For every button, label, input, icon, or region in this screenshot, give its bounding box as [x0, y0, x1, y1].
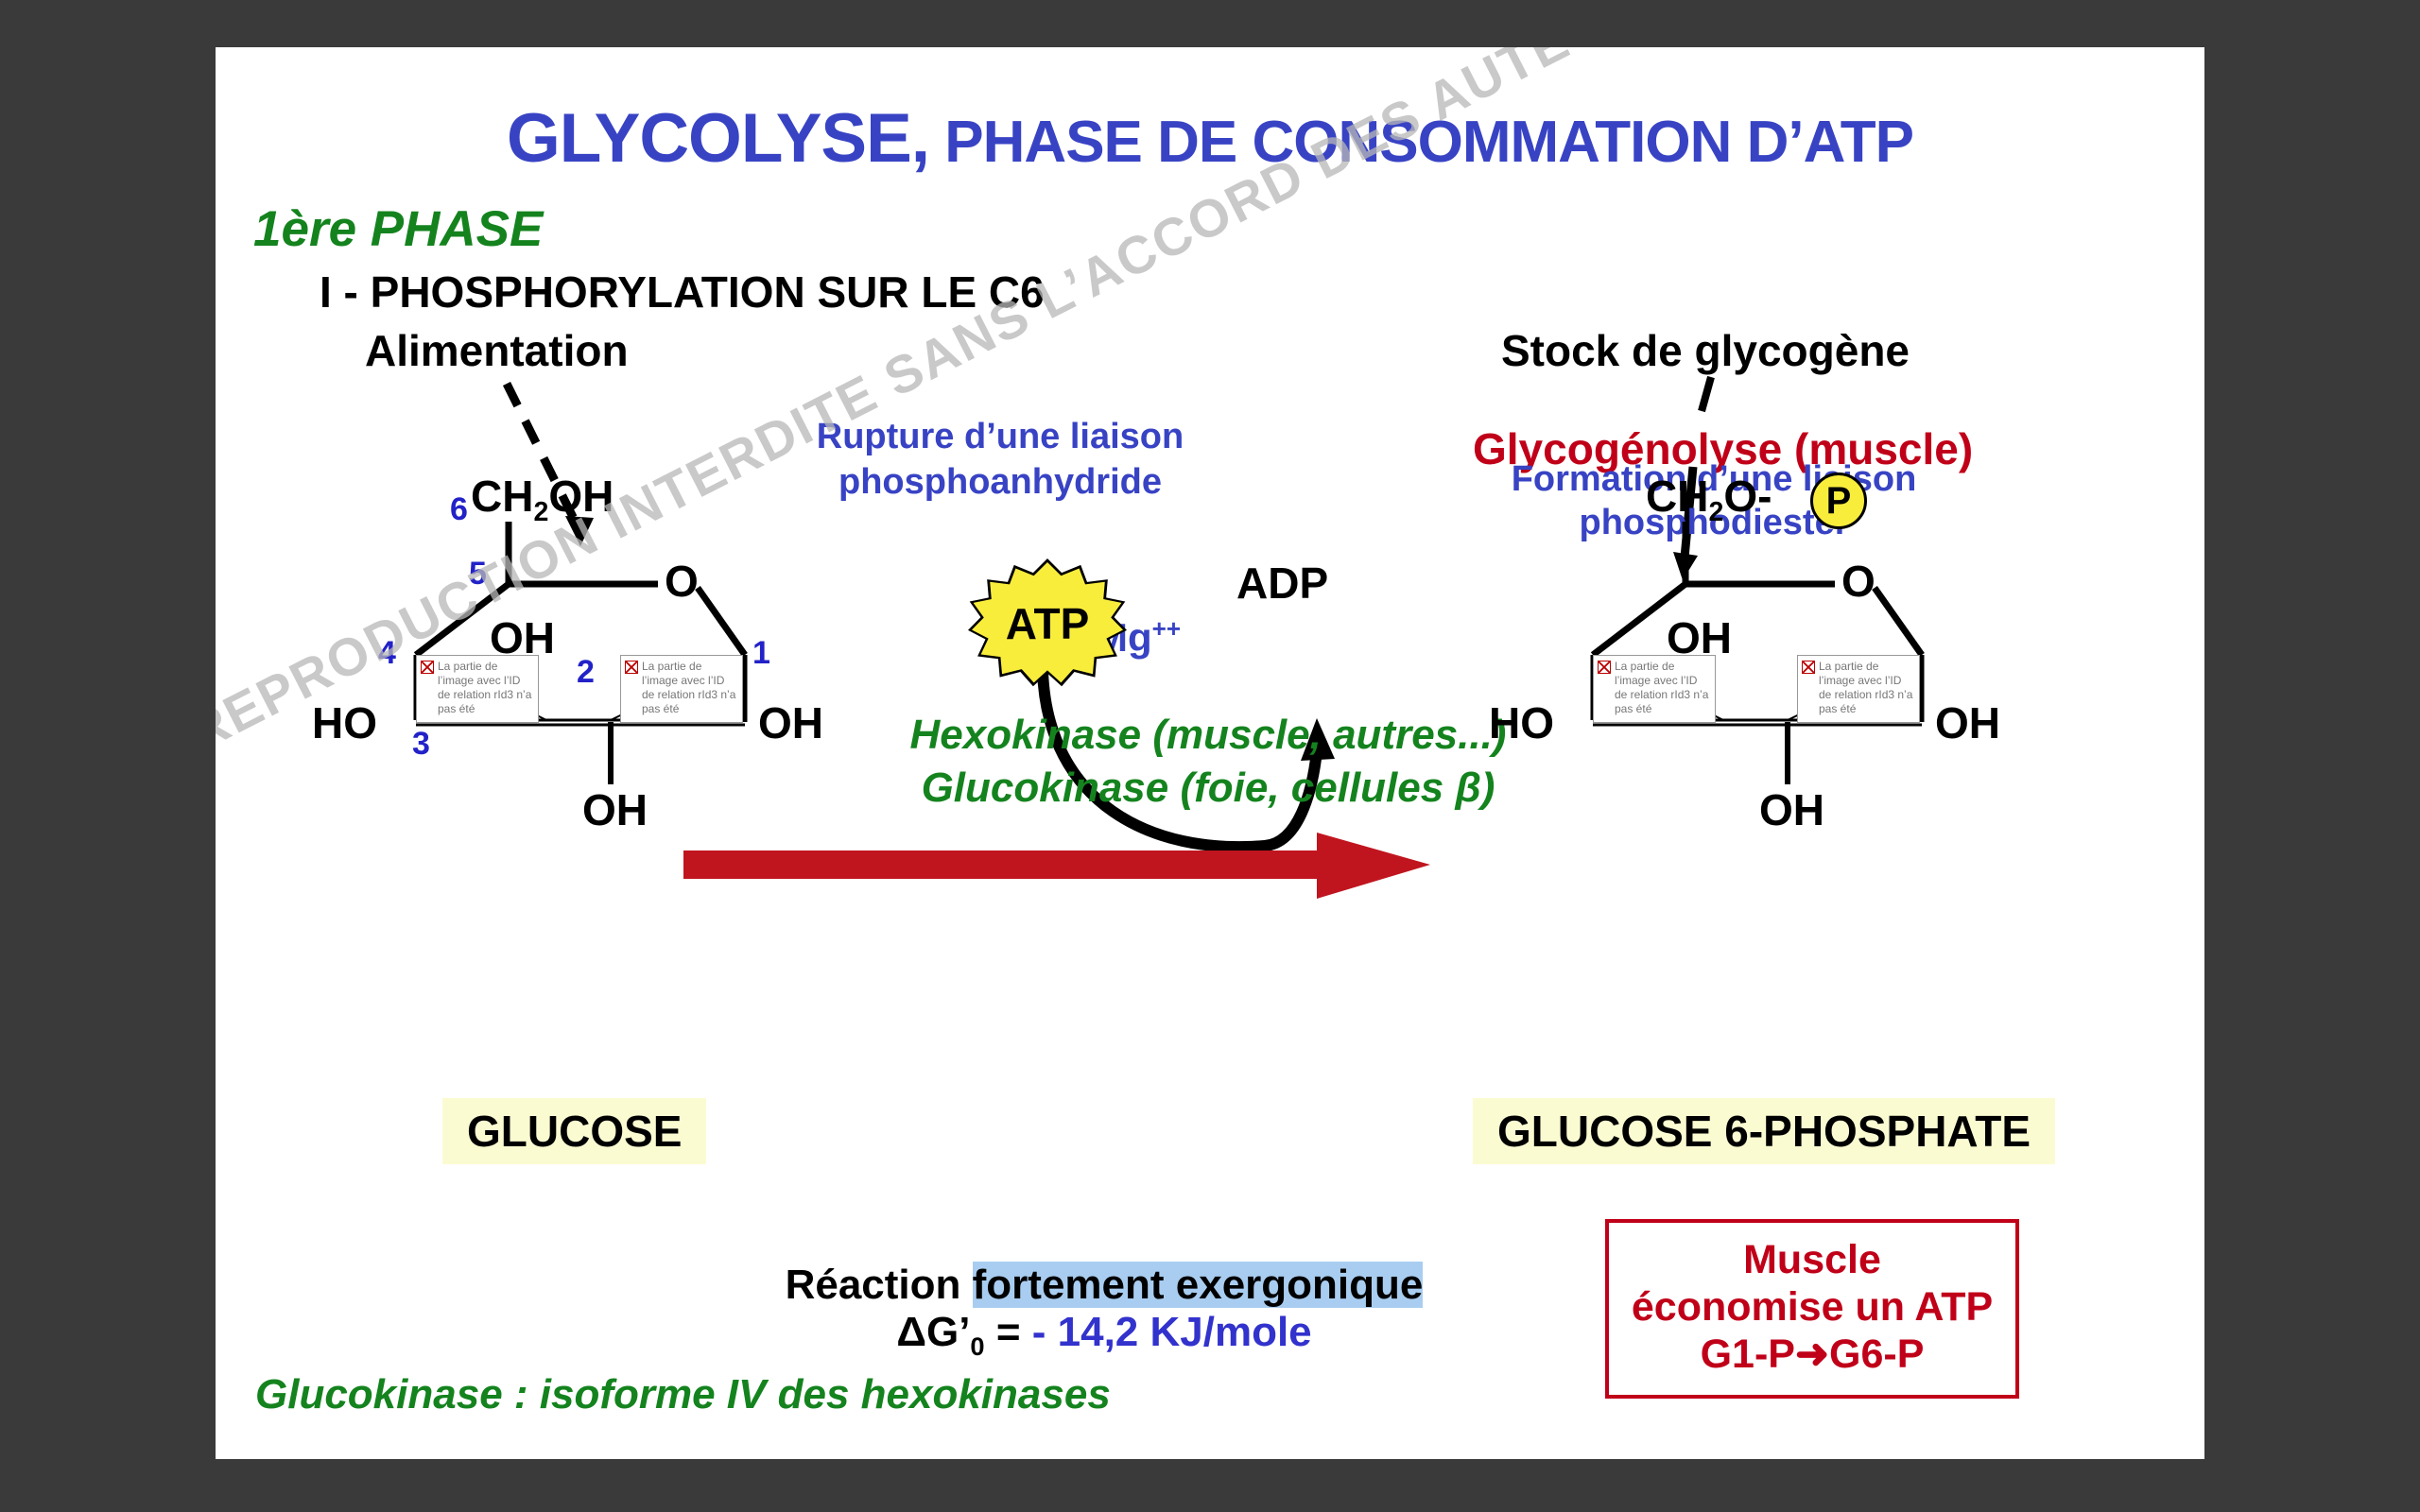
reaction-prefix: Réaction	[786, 1262, 973, 1308]
broken-image-placeholder: La partie de l’image avec l’ID de relati…	[1797, 655, 1920, 723]
glucose-c6-group: CH2OH	[471, 471, 614, 528]
glucose-oh-c2: OH	[582, 784, 648, 835]
g6p-ring-oxygen: O	[1841, 556, 1875, 607]
glucose-structure: La partie de l’image avec l’ID de relati…	[357, 501, 849, 879]
muscle-line-1: Muscle	[1609, 1236, 2015, 1283]
slide-canvas: GLYCOLYSE, PHASE DE CONSOMMATION D’ATP 1…	[216, 47, 2204, 1459]
mg-charge: ++	[1152, 614, 1181, 643]
glucose-ho-c4: HO	[312, 697, 377, 748]
g6p-label: G6-P	[1829, 1332, 1924, 1377]
carbon-number-5: 5	[469, 556, 487, 593]
glucose6phosphate-structure: La partie de l’image avec l’ID de relati…	[1534, 501, 2026, 879]
reaction-highlight: fortement exergonique	[973, 1262, 1424, 1308]
g6p-ho-c4: HO	[1489, 697, 1554, 748]
enzyme-hexokinase: Hexokinase (muscle, autres...)	[910, 712, 1507, 758]
delta-g-symbol: ΔG’	[896, 1309, 970, 1355]
adp-label: ADP	[1236, 558, 1328, 609]
broken-image-placeholder: La partie de l’image avec l’ID de relati…	[620, 655, 743, 723]
carbon-number-1: 1	[752, 635, 770, 672]
delta-g-subscript: 0	[970, 1332, 984, 1361]
delta-g-value: - 14,2 KJ/mole	[1032, 1309, 1312, 1355]
g1p-label: G1-P	[1701, 1332, 1795, 1377]
g6p-oh-c2: OH	[1759, 784, 1824, 835]
g6p-c6-ch: CH	[1646, 472, 1708, 521]
c6-tail: OH	[548, 472, 614, 521]
carbon-number-2: 2	[577, 654, 595, 691]
glycogen-arrow-icon	[1690, 373, 1728, 421]
c6-sub: 2	[533, 497, 548, 527]
g6p-c6-sub: 2	[1708, 497, 1723, 527]
alimentation-label: Alimentation	[365, 325, 629, 376]
g6p-c6-group: CH2O-	[1646, 471, 1772, 528]
carbon-number-3: 3	[412, 726, 430, 763]
stock-glycogene-label: Stock de glycogène	[1501, 325, 1910, 376]
phosphate-group-icon: P	[1810, 472, 1867, 529]
carbon-number-6: 6	[450, 491, 468, 528]
c6-ch: CH	[471, 472, 533, 521]
reaction-energetics: Réaction fortement exergonique ΔG’0 = - …	[679, 1262, 1530, 1362]
title-emphasis: GLYCOLYSE,	[507, 100, 929, 177]
broken-image-placeholder: La partie de l’image avec l’ID de relati…	[416, 655, 539, 723]
g6p-c6-tail: O-	[1723, 472, 1772, 521]
muscle-callout-box: Muscle économise un ATP G1-P➜G6-P	[1605, 1219, 2019, 1399]
glucose-ring-oxygen: O	[665, 556, 699, 607]
glucokinase-footnote: Glucokinase : isoforme IV des hexokinase…	[255, 1371, 1111, 1418]
broken-image-placeholder: La partie de l’image avec l’ID de relati…	[1593, 655, 1716, 723]
g6p-oh-c1: OH	[1935, 697, 2000, 748]
enzyme-glucokinase: Glucokinase (foie, cellules β)	[922, 765, 1495, 811]
muscle-line-2: économise un ATP	[1609, 1283, 2015, 1331]
muscle-line-3: G1-P➜G6-P	[1609, 1331, 2015, 1378]
rupture-annotation: Rupture d’une liaison phosphoanhydride	[783, 414, 1218, 505]
page-title: GLYCOLYSE, PHASE DE CONSOMMATION D’ATP	[216, 99, 2204, 178]
carbon-number-4: 4	[378, 635, 396, 672]
enzyme-labels: Hexokinase (muscle, autres...) Glucokina…	[821, 709, 1596, 815]
conversion-arrow-icon: ➜	[1795, 1332, 1829, 1377]
glucose-name-badge: GLUCOSE	[442, 1098, 706, 1164]
title-rest: PHASE DE CONSOMMATION D’ATP	[929, 110, 1913, 175]
section-heading: I - PHOSPHORYLATION SUR LE C6	[320, 266, 1045, 318]
glucose6phosphate-name-badge: GLUCOSE 6-PHOSPHATE	[1473, 1098, 2055, 1164]
glucose-oh-c1: OH	[758, 697, 823, 748]
phase-label: 1ère PHASE	[253, 200, 543, 258]
delta-g-equals: =	[985, 1309, 1032, 1355]
